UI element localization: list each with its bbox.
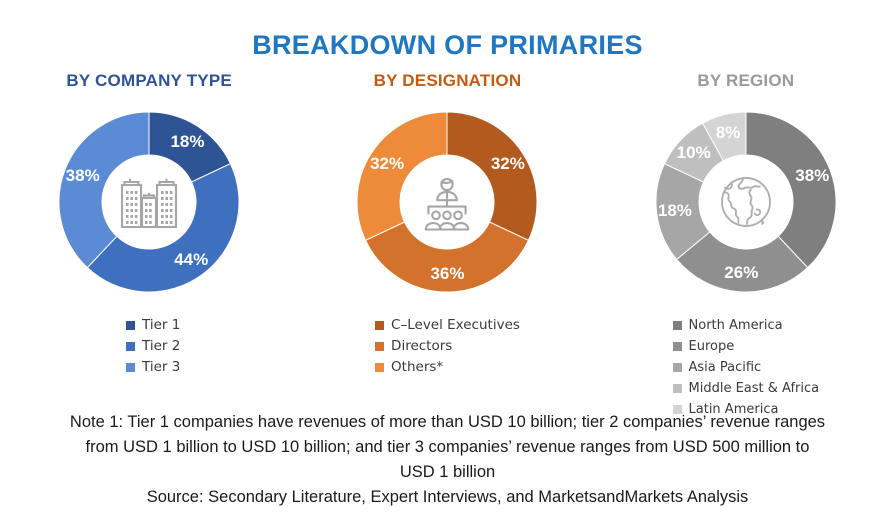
page-title: BREAKDOWN OF PRIMARIES — [0, 30, 895, 61]
donut-chart-region: 38% 26% 18% 10% 8% — [646, 102, 846, 302]
panel-designation: BY DESIGNATION — [298, 70, 596, 419]
legend-item: Europe — [673, 337, 820, 356]
legend-swatch-icon — [126, 342, 135, 351]
footnote-line-1: Note 1: Tier 1 companies have revenues o… — [0, 410, 895, 435]
legend-item-label: Europe — [689, 337, 735, 356]
legend-item: Others* — [375, 358, 520, 377]
legend-item: Tier 2 — [126, 337, 180, 356]
footnote-line-2: from USD 1 billion to USD 10 billion; an… — [0, 435, 895, 460]
office-buildings-icon — [112, 165, 186, 239]
legend-item-label: Tier 3 — [142, 358, 180, 377]
legend-item-label: Others* — [391, 358, 443, 377]
legend-item: Tier 3 — [126, 358, 180, 377]
legend-item-label: Asia Pacific — [689, 358, 762, 377]
charts-row: BY COMPANY TYPE — [0, 70, 895, 419]
source-line: Source: Secondary Literature, Expert Int… — [0, 485, 895, 510]
legend-swatch-icon — [375, 321, 384, 330]
legend-item-label: Directors — [391, 337, 452, 356]
breakdown-of-primaries-infographic: BREAKDOWN OF PRIMARIES BY COMPANY TYPE — [0, 0, 895, 518]
legend-swatch-icon — [375, 363, 384, 372]
legend-swatch-icon — [673, 342, 682, 351]
legend-swatch-icon — [673, 321, 682, 330]
legend-item-label: Middle East & Africa — [689, 379, 820, 398]
legend-swatch-icon — [673, 363, 682, 372]
panel-designation-heading: BY DESIGNATION — [374, 70, 522, 92]
panel-region: BY REGION — [597, 70, 895, 419]
legend-item: C–Level Executives — [375, 316, 520, 335]
legend-company-type: Tier 1 Tier 2 Tier 3 — [126, 316, 180, 377]
legend-item: Middle East & Africa — [673, 379, 820, 398]
legend-swatch-icon — [126, 321, 135, 330]
legend-region: North America Europe Asia Pacific Middle… — [673, 316, 820, 419]
legend-swatch-icon — [126, 363, 135, 372]
panel-company-type-heading: BY COMPANY TYPE — [66, 70, 231, 92]
legend-item-label: Tier 1 — [142, 316, 180, 335]
legend-item: North America — [673, 316, 820, 335]
legend-item: Tier 1 — [126, 316, 180, 335]
panel-company-type: BY COMPANY TYPE — [0, 70, 298, 419]
legend-swatch-icon — [673, 384, 682, 393]
donut-chart-designation: 32% 36% 32% — [347, 102, 547, 302]
globe-icon — [709, 165, 783, 239]
panel-region-heading: BY REGION — [697, 70, 794, 92]
legend-swatch-icon — [375, 342, 384, 351]
footnote-line-3: USD 1 billion — [0, 460, 895, 485]
footer: Note 1: Tier 1 companies have revenues o… — [0, 410, 895, 510]
legend-designation: C–Level Executives Directors Others* — [375, 316, 520, 377]
legend-item-label: North America — [689, 316, 783, 335]
legend-item-label: Tier 2 — [142, 337, 180, 356]
org-hierarchy-icon — [410, 165, 484, 239]
donut-chart-company-type: 18% 44% 38% — [49, 102, 249, 302]
legend-item: Directors — [375, 337, 520, 356]
legend-item: Asia Pacific — [673, 358, 820, 377]
legend-item-label: C–Level Executives — [391, 316, 520, 335]
